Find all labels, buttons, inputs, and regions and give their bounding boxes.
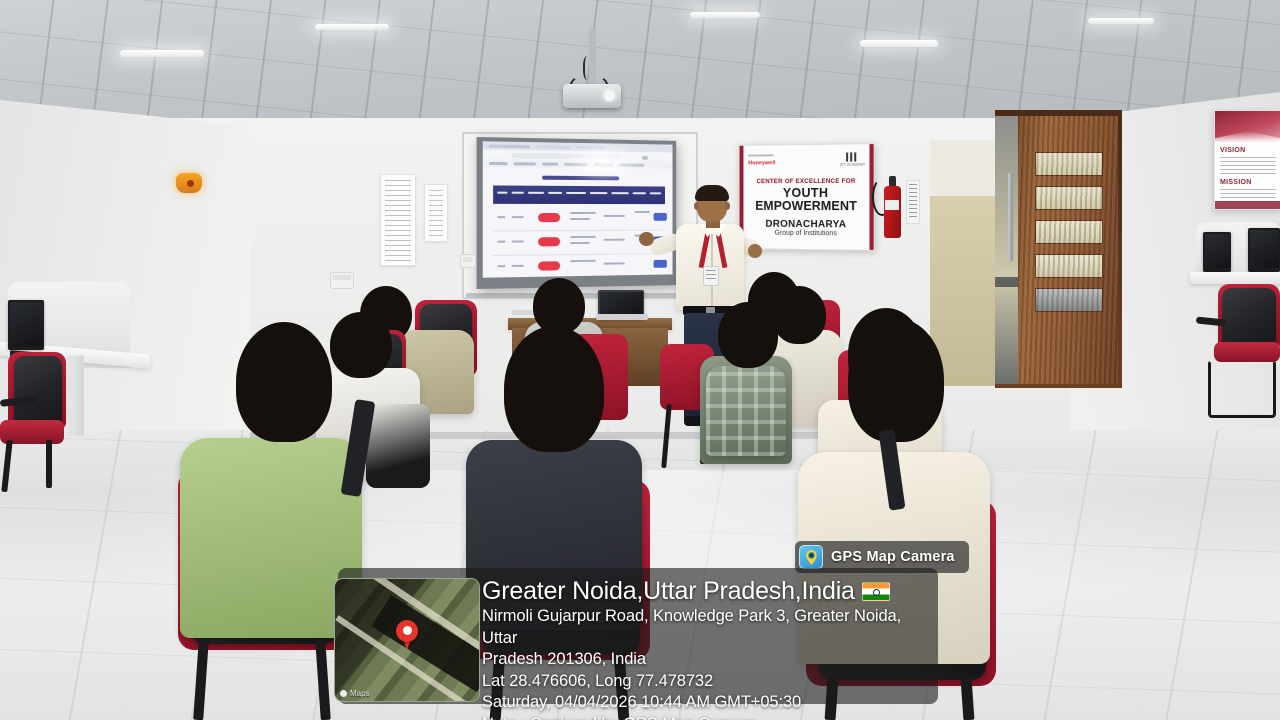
wall-notice	[380, 174, 416, 266]
extinguisher-instruction-card	[906, 180, 920, 224]
coordinates: Lat 28.476606, Long 77.478732	[482, 671, 934, 693]
lab-monitor	[8, 300, 44, 350]
row-action-button[interactable]	[654, 213, 667, 221]
col-head	[512, 192, 524, 194]
lab-chair-back	[14, 356, 62, 426]
ceiling-light	[1088, 18, 1154, 24]
ceiling-light	[120, 50, 204, 57]
cell	[497, 265, 505, 267]
banner-line-2: YOUTH	[740, 187, 874, 199]
cell	[497, 241, 505, 243]
google-g-icon	[340, 690, 347, 697]
ceiling-light	[690, 12, 760, 18]
lab-chair-leg	[46, 440, 52, 488]
lab-chair-back	[1222, 288, 1276, 348]
presenter-ear	[725, 202, 730, 210]
banner-line-1: CENTER OF EXCELLENCE FOR	[740, 178, 874, 186]
table-row	[493, 253, 665, 278]
wall-notice	[424, 184, 448, 242]
lab-monitor	[1248, 228, 1280, 272]
cell	[570, 212, 596, 214]
ceiling-light	[860, 40, 938, 47]
status-badge	[538, 237, 560, 246]
cell	[570, 218, 590, 220]
cell	[570, 260, 596, 262]
attendee-backpack	[366, 404, 430, 488]
banner-line-3: EMPOWERMENT	[740, 200, 874, 212]
presenter-id-badge	[703, 266, 719, 286]
alarm-lens-icon	[187, 180, 194, 187]
presenter-hair	[695, 185, 729, 201]
gps-map-camera-label: GPS Map Camera	[831, 549, 955, 565]
honeywell-logo: Honeywell	[748, 160, 775, 166]
bookmark-item[interactable]	[489, 162, 508, 165]
cell	[512, 240, 524, 242]
attendee-plaid-shirt	[706, 366, 786, 456]
wooden-sliding-door[interactable]	[1018, 116, 1118, 384]
location-title: Greater Noida,Uttar Pradesh,India	[482, 576, 934, 606]
door-glass-panel	[1035, 254, 1103, 278]
map-watermark: Maps	[340, 689, 370, 698]
gps-camera-pin-icon	[799, 545, 823, 569]
cell	[604, 215, 625, 217]
col-head	[650, 192, 661, 194]
poster-heading-mission: MISSION	[1220, 179, 1252, 186]
poster-body-text	[1220, 157, 1276, 177]
ceiling-light	[315, 24, 389, 30]
presenter-left-hand	[639, 232, 654, 246]
cell	[497, 216, 505, 218]
address-line-1: Nirmoli Gujarpur Road, Knowledge Park 3,…	[482, 606, 934, 649]
lab-chair-sled-base	[1208, 360, 1276, 418]
attendee-head	[718, 302, 778, 368]
banner-org-subtitle: Group of Institutions	[740, 229, 874, 237]
light-switch-plate[interactable]	[330, 272, 354, 289]
status-badge	[538, 261, 560, 270]
location-details: Greater Noida,Uttar Pradesh,India Nirmol…	[482, 576, 934, 720]
bookmark-item[interactable]	[542, 163, 558, 166]
cell	[570, 236, 596, 238]
academy-mark-icon	[847, 152, 859, 161]
cell	[512, 265, 524, 267]
attendee-head	[504, 326, 604, 452]
projector-lens-icon	[604, 90, 615, 101]
status-badge	[538, 213, 560, 222]
location-title-text: Greater Noida,Uttar Pradesh,India	[482, 577, 855, 605]
col-head	[548, 192, 562, 194]
door-handle[interactable]	[1008, 172, 1013, 262]
ict-academy-logo: ICT ACADEMY	[840, 152, 866, 166]
door-glass-panel	[1035, 152, 1103, 176]
presenter-laptop-base	[596, 314, 648, 320]
cell	[604, 262, 625, 264]
india-flag-icon	[862, 582, 890, 601]
map-watermark-label: Maps	[350, 689, 370, 698]
timestamp: Saturday, 04/04/2026 10:44 AM GMT+05:30	[482, 692, 934, 714]
door-glass-panel	[1035, 288, 1103, 312]
cell	[570, 242, 590, 244]
table-header-row	[493, 185, 665, 204]
bookmark-item[interactable]	[514, 162, 536, 165]
door-glass-panel	[1035, 186, 1103, 210]
socket-plate[interactable]	[460, 254, 476, 268]
map-thumbnail[interactable]: Maps	[334, 578, 480, 702]
projector-glare	[560, 142, 646, 182]
col-head	[497, 192, 507, 194]
col-head	[611, 192, 628, 194]
fire-extinguisher-icon	[884, 186, 901, 238]
table-row	[493, 206, 665, 232]
cell	[635, 211, 650, 213]
poster-heading-vision: VISION	[1220, 147, 1246, 154]
col-head	[590, 192, 608, 194]
browser-tab	[489, 144, 530, 148]
lab-chair-seat	[1214, 342, 1280, 362]
attendee-head	[772, 286, 826, 344]
browser-tab	[536, 145, 570, 149]
cell	[512, 216, 524, 218]
banner-rule	[748, 154, 773, 156]
lab-monitor	[1203, 232, 1231, 272]
location-pin-icon	[396, 620, 418, 642]
col-head	[566, 192, 586, 194]
poster-footer	[1215, 201, 1280, 209]
presenter-ear	[694, 202, 699, 210]
address-line-2: Pradesh 201306, India	[482, 649, 934, 671]
poster-image	[1215, 111, 1280, 143]
attendee-head	[330, 312, 392, 378]
corridor-upper-wall	[930, 140, 996, 198]
col-head	[528, 192, 544, 194]
extinguisher-label	[885, 200, 899, 210]
table-row	[493, 230, 665, 257]
event-banner: Honeywell ICT ACADEMY CENTER OF EXCELLEN…	[739, 143, 875, 251]
capture-note: Note : Captured by GPS Map Camera	[482, 714, 934, 720]
photo-canvas: Honeywell ICT ACADEMY CENTER OF EXCELLEN…	[0, 0, 1280, 720]
lab-desk-top	[1190, 272, 1280, 284]
attendee-head	[236, 322, 332, 442]
cell	[604, 239, 625, 241]
door-glass-panel	[1035, 220, 1103, 244]
vision-mission-poster: VISION MISSION	[1214, 110, 1280, 210]
col-head	[633, 192, 646, 194]
presenter-right-hand	[748, 244, 762, 258]
row-action-button[interactable]	[654, 260, 667, 268]
attendee-head	[848, 318, 944, 442]
